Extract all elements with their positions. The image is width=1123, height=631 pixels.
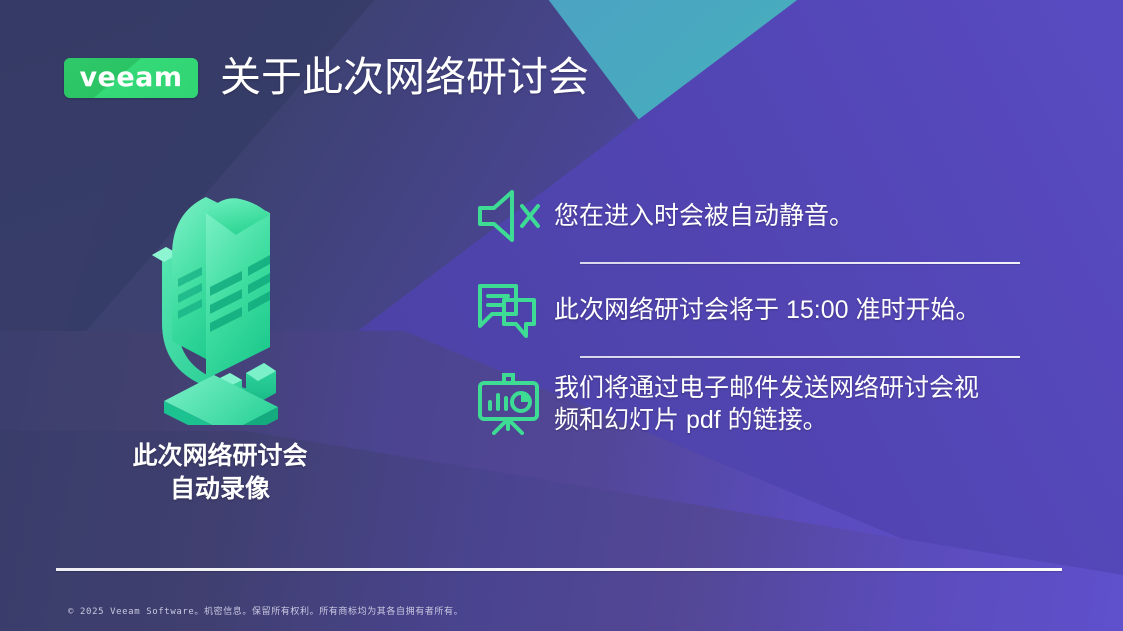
page-title: 关于此次网络研讨会 xyxy=(220,57,589,98)
info-row-mute: 您在进入时会被自动静音。 xyxy=(476,170,1028,262)
info-row-mute-text: 您在进入时会被自动静音。 xyxy=(554,200,854,233)
illustration-caption-line-1: 此次网络研讨会 xyxy=(60,440,380,473)
illustration-caption-line-2: 自动录像 xyxy=(60,473,380,506)
slide-header: veeam 关于此次网络研讨会 xyxy=(64,57,589,98)
microphone-3d-icon xyxy=(118,175,348,425)
mute-speaker-icon xyxy=(476,188,554,244)
illustration-caption: 此次网络研讨会 自动录像 xyxy=(60,440,380,506)
footer-divider xyxy=(56,568,1062,571)
info-row-followup-line-2: 频和幻灯片 pdf 的链接。 xyxy=(554,404,979,437)
info-row-followup: 我们将通过电子邮件发送网络研讨会视 频和幻灯片 pdf 的链接。 xyxy=(476,358,1028,450)
footer-copyright: © 2025 Veeam Software。机密信息。保留所有权利。所有商标均为… xyxy=(68,604,463,617)
microphone-illustration xyxy=(118,175,348,425)
webinar-info-list: 您在进入时会被自动静音。 此次网络研讨会将于 15:00 准时开始。 xyxy=(476,170,1028,450)
info-row-start-time: 此次网络研讨会将于 15:00 准时开始。 xyxy=(476,264,1028,356)
chat-bubbles-icon xyxy=(476,280,554,340)
veeam-logo-text: veeam xyxy=(79,64,182,91)
info-row-start-time-text: 此次网络研讨会将于 15:00 准时开始。 xyxy=(554,294,980,327)
veeam-logo: veeam xyxy=(64,58,198,98)
presentation-board-icon xyxy=(476,373,554,435)
webinar-slide: veeam 关于此次网络研讨会 xyxy=(0,0,1123,631)
info-row-followup-text: 我们将通过电子邮件发送网络研讨会视 频和幻灯片 pdf 的链接。 xyxy=(554,372,979,437)
info-row-followup-line-1: 我们将通过电子邮件发送网络研讨会视 xyxy=(554,372,979,405)
